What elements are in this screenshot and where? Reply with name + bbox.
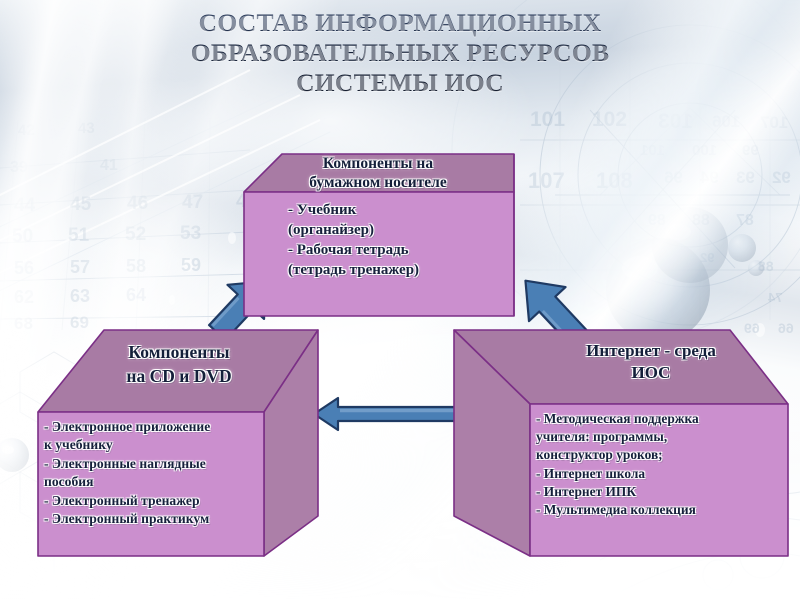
slide-title: СОСТАВ ИНФОРМАЦИОННЫХ ОБРАЗОВАТЕЛЬНЫХ РЕ… <box>90 8 710 98</box>
box-paper-shape <box>236 150 516 320</box>
slide-canvas: 42 43 39 41 44 45 46 47 48 50 51 52 53 5… <box>0 0 800 600</box>
box-paper-front-face <box>244 192 514 316</box>
box-internet-shape <box>452 326 788 560</box>
box-cd-dvd-components[interactable]: Компоненты на CD и DVD - Электронное при… <box>24 326 318 560</box>
box-internet-front-face <box>530 404 788 556</box>
box-cd-dvd-front-face <box>38 412 264 556</box>
box-internet-environment[interactable]: Интернет - среда ИОС - Методическая подд… <box>452 326 788 560</box>
box-paper-components[interactable]: Компоненты на бумажном носителе - Учебни… <box>236 150 516 320</box>
box-paper-top-face <box>244 154 514 192</box>
box-cd-dvd-shape <box>24 326 318 560</box>
